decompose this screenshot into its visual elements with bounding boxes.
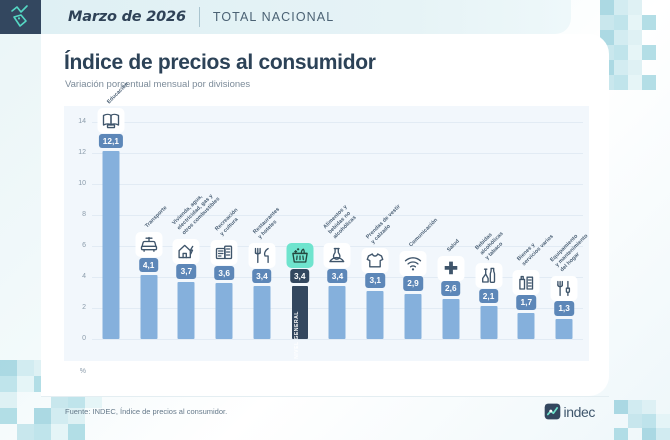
bar[interactable] — [442, 299, 459, 339]
bar-value-label: 12,1 — [99, 134, 123, 149]
y-axis-unit: % — [64, 368, 86, 375]
y-axis-tick: 14 — [64, 118, 86, 125]
mosaic-tile — [642, 414, 656, 428]
y-axis-tick: 12 — [64, 149, 86, 156]
bar-value-label: 3,4 — [290, 269, 310, 284]
mosaic-tile — [656, 414, 670, 428]
mosaic-tile — [614, 414, 628, 428]
footer: Fuente: INDEC, Índice de precios al cons… — [41, 396, 609, 426]
mosaic-tile — [17, 424, 34, 440]
mosaic-tile — [642, 75, 656, 90]
mosaic-tile — [628, 400, 642, 414]
wifi-icon — [400, 251, 427, 276]
mosaic-tile — [628, 414, 642, 428]
mosaic-tile — [642, 45, 656, 60]
mosaic-tile — [628, 15, 642, 30]
bar-group[interactable]: 3,7Vivienda, agua,electricidad, gas yotr… — [168, 106, 206, 339]
bar-group[interactable]: 3,1Prendas de vestiry calzado — [356, 106, 394, 339]
bar-value-label: 3,4 — [252, 269, 272, 284]
bar[interactable] — [216, 283, 233, 339]
house-energy-icon — [173, 239, 200, 264]
y-axis-tick: 0 — [64, 335, 86, 342]
bar[interactable] — [102, 151, 119, 339]
x-axis-category-label: Recreacióny cultura — [214, 207, 245, 238]
bar-value-label: 3,7 — [177, 264, 197, 279]
bar[interactable] — [140, 275, 157, 339]
mosaic-tile — [642, 30, 656, 45]
shopping-basket-icon — [286, 243, 313, 268]
indec-logo: indec — [544, 403, 595, 420]
bottle-icon — [475, 263, 502, 288]
header-divider — [199, 7, 200, 27]
bar[interactable] — [253, 286, 270, 339]
bar-group[interactable]: 12,1Educación — [92, 106, 130, 339]
header-period: Marzo de 2026 — [68, 9, 186, 25]
y-axis-tick: 10 — [64, 180, 86, 187]
source-note: Fuente: INDEC, Índice de precios al cons… — [65, 407, 227, 416]
bar[interactable] — [178, 282, 195, 339]
bar-nivel-general[interactable]: NIVEL GENERAL — [292, 286, 308, 339]
bar-chart: 14121086420 12,1Educación4,1Transporte3,… — [64, 106, 589, 361]
bar[interactable] — [518, 313, 535, 339]
mosaic-tile — [0, 392, 17, 408]
mosaic-tile — [642, 15, 656, 30]
mosaic-tile — [642, 60, 656, 75]
bar-value-label: 2,9 — [403, 276, 423, 291]
bar-value-label: 2,6 — [441, 281, 461, 296]
bar[interactable] — [329, 286, 346, 339]
food-icon — [324, 243, 351, 268]
bar-group[interactable]: 1,3Equipamientoy mantenimientodel hogar — [545, 106, 583, 339]
mosaic-tile — [628, 60, 642, 75]
y-axis-tick: 4 — [64, 273, 86, 280]
mosaic-tile — [68, 424, 85, 440]
mosaic-tile — [614, 0, 628, 15]
mosaic-tile — [656, 45, 670, 60]
health-cross-icon — [437, 256, 464, 281]
page-title: Índice de precios al consumidor — [64, 51, 376, 75]
mosaic-tile — [614, 75, 628, 90]
chart-gridline — [92, 339, 583, 340]
utensils-tools-icon — [551, 276, 578, 301]
x-axis-category-label: Alimentos ybebidas noalcohólicas — [323, 205, 360, 242]
header-scope: TOTAL NACIONAL — [213, 10, 334, 24]
decorative-mosaic-bottom-right — [614, 400, 670, 440]
header-bar: Marzo de 2026 TOTAL NACIONAL — [41, 0, 571, 34]
decorative-mosaic-top-right — [600, 0, 670, 90]
y-axis-tick: 8 — [64, 211, 86, 218]
mosaic-tile — [656, 400, 670, 414]
bar[interactable] — [480, 306, 497, 339]
mosaic-tile — [628, 428, 642, 440]
mosaic-tile — [628, 0, 642, 15]
mosaic-tile — [628, 30, 642, 45]
bar-value-label: 3,4 — [328, 269, 348, 284]
mosaic-tile — [600, 0, 614, 15]
mosaic-tile — [0, 424, 17, 440]
mosaic-tile — [0, 376, 17, 392]
content-card: Índice de precios al consumidor Variació… — [41, 34, 609, 396]
y-axis-tick: 2 — [64, 304, 86, 311]
bar-group[interactable]: 1,7Bienes yservicios varios — [507, 106, 545, 339]
indec-chart-icon — [544, 403, 561, 420]
cutlery-icon — [248, 243, 275, 268]
tshirt-icon — [362, 248, 389, 273]
x-axis-category-label: Transporte — [144, 205, 169, 230]
bar[interactable] — [405, 294, 422, 339]
mosaic-tile — [614, 428, 628, 440]
bar-group[interactable]: 2,9Comunicación — [394, 106, 432, 339]
indec-tag-icon — [0, 0, 41, 34]
indec-logo-text: indec — [564, 404, 595, 420]
bar-value-label: 1,7 — [517, 295, 537, 310]
bar-value-label: 1,3 — [554, 301, 574, 316]
chart-bars: 12,1Educación4,1Transporte3,7Vivienda, a… — [92, 106, 583, 339]
mosaic-tile — [600, 15, 614, 30]
bar-group[interactable]: 3,4Alimentos ybebidas noalcohólicas — [319, 106, 357, 339]
bar-value-label: 2,1 — [479, 289, 499, 304]
page-subtitle: Variación porcentual mensual por divisio… — [65, 79, 250, 90]
mosaic-tile — [51, 424, 68, 440]
bar-group[interactable]: 2,1Bebidasalcohólicasy tabaco — [470, 106, 508, 339]
mosaic-tile — [614, 400, 628, 414]
bar-value-label: 4,1 — [139, 258, 159, 273]
mosaic-tile — [17, 408, 34, 424]
mosaic-tile — [0, 408, 17, 424]
bar-group[interactable]: 3,6Recreacióny cultura — [205, 106, 243, 339]
bar-value-label: 3,1 — [365, 273, 385, 288]
toiletries-icon — [513, 270, 540, 295]
mosaic-tile — [642, 400, 656, 414]
mosaic-tile — [17, 376, 34, 392]
bar-nivel-general-label: NIVEL GENERAL — [294, 311, 300, 359]
mosaic-tile — [656, 15, 670, 30]
mosaic-tile — [642, 0, 656, 15]
mosaic-tile — [34, 424, 51, 440]
mosaic-tile — [614, 45, 628, 60]
mosaic-tile — [17, 392, 34, 408]
bar-group[interactable]: NIVEL GENERAL3,4 — [281, 106, 319, 339]
bar-group[interactable]: 2,6Salud — [432, 106, 470, 339]
x-axis-category-label: Bebidasalcohólicasy tabaco — [474, 226, 510, 262]
mosaic-tile — [628, 45, 642, 60]
slide-root: Marzo de 2026 TOTAL NACIONAL Índice de p… — [0, 0, 670, 440]
bar[interactable] — [556, 319, 573, 339]
mosaic-tile — [656, 75, 670, 90]
mosaic-tile — [656, 0, 670, 15]
car-icon — [135, 232, 162, 257]
mosaic-tile — [656, 30, 670, 45]
bar-value-label: 3,6 — [214, 266, 234, 281]
mosaic-tile — [17, 360, 34, 376]
bar-group[interactable]: 3,4Restaurantesy hoteles — [243, 106, 281, 339]
mosaic-tile — [656, 60, 670, 75]
mosaic-tile — [614, 30, 628, 45]
book-icon — [97, 108, 124, 133]
bar-group[interactable]: 4,1Transporte — [130, 106, 168, 339]
mosaic-tile — [85, 424, 102, 440]
mosaic-tile — [642, 428, 656, 440]
mosaic-tile — [614, 15, 628, 30]
mosaic-tile — [0, 360, 17, 376]
mosaic-tile — [614, 60, 628, 75]
cinema-icon — [211, 240, 238, 265]
y-axis-tick: 6 — [64, 242, 86, 249]
x-axis-category-label: Salud — [446, 238, 461, 253]
mosaic-tile — [656, 428, 670, 440]
mosaic-tile — [628, 75, 642, 90]
bar[interactable] — [367, 291, 384, 339]
